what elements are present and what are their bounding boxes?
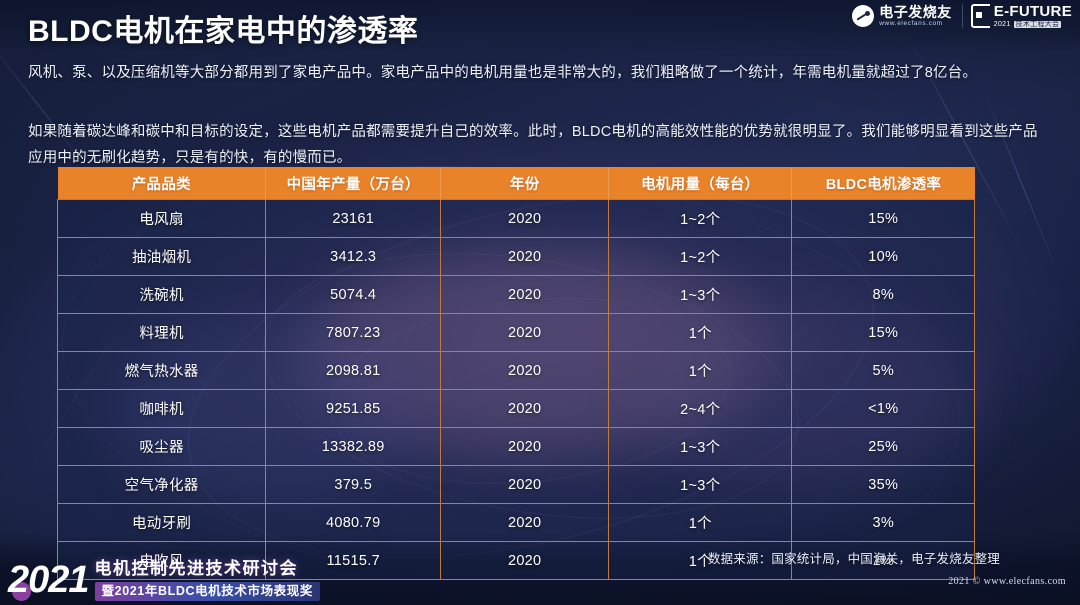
cell-year: 2020 [441,542,609,580]
cell-year: 2020 [441,314,609,352]
cell-motor-usage: 1~3个 [609,466,792,504]
table-row: 料理机7807.2320201个15% [58,314,975,352]
table-row: 空气净化器379.520201~3个35% [58,466,975,504]
cell-annual-output: 3412.3 [266,238,441,276]
table-body: 电风扇2316120201~2个15%抽油烟机3412.320201~2个10%… [58,200,975,580]
cell-annual-output: 9251.85 [266,390,441,428]
table-header-row: 产品品类 中国年产量（万台） 年份 电机用量（每台） BLDC电机渗透率 [58,167,975,200]
cell-product-category: 咖啡机 [58,390,266,428]
table-row: 抽油烟机3412.320201~2个10% [58,238,975,276]
page-title: BLDC电机在家电中的渗透率 [28,6,418,50]
event-logo[interactable]: 2021 电机控制先进技术研讨会 暨2021年BLDC电机技术市场表现奖 [8,560,320,602]
cell-bldc-penetration: 8% [792,276,975,314]
cell-year: 2020 [441,428,609,466]
cell-bldc-penetration: 25% [792,428,975,466]
cell-annual-output: 379.5 [266,466,441,504]
table-row: 电动牙刷4080.7920201个3% [58,504,975,542]
cell-product-category: 电动牙刷 [58,504,266,542]
elecfans-logo[interactable]: 电子发烧友 www.elecfans.com [852,5,952,28]
cell-year: 2020 [441,200,609,238]
cell-bldc-penetration: 10% [792,238,975,276]
cell-annual-output: 5074.4 [266,276,441,314]
cell-year: 2020 [441,466,609,504]
column-header-annual-output: 中国年产量（万台） [266,167,441,200]
table-row: 电风扇2316120201~2个15% [58,200,975,238]
cell-annual-output: 7807.23 [266,314,441,352]
table-row: 吸尘器13382.8920201~3个25% [58,428,975,466]
cell-annual-output: 13382.89 [266,428,441,466]
cell-motor-usage: 1~2个 [609,238,792,276]
cell-bldc-penetration: 3% [792,504,975,542]
cell-product-category: 洗碗机 [58,276,266,314]
elecfans-logo-url: www.elecfans.com [879,21,952,28]
efuture-logo[interactable]: E-FUTURE 2021 技术工程大会 [962,4,1072,28]
cell-annual-output: 2098.81 [266,352,441,390]
column-header-product-category: 产品品类 [58,167,266,200]
cell-bldc-penetration: 15% [792,314,975,352]
cell-product-category: 料理机 [58,314,266,352]
cell-motor-usage: 1~3个 [609,276,792,314]
cell-motor-usage: 1~3个 [609,428,792,466]
cell-year: 2020 [441,238,609,276]
data-source-note: 数据来源：国家统计局，中国海关，电子发烧友整理 [708,548,1000,567]
efuture-logo-year: 2021 [994,21,1011,28]
cell-motor-usage: 1个 [609,314,792,352]
event-logo-title: 电机控制先进技术研讨会 [95,560,320,577]
cell-motor-usage: 1个 [609,352,792,390]
column-header-bldc-penetration: BLDC电机渗透率 [792,167,975,200]
cell-product-category: 空气净化器 [58,466,266,504]
cell-annual-output: 4080.79 [266,504,441,542]
cell-product-category: 抽油烟机 [58,238,266,276]
penetration-rate-table: 产品品类 中国年产量（万台） 年份 电机用量（每台） BLDC电机渗透率 电风扇… [57,167,975,580]
cell-bldc-penetration: 35% [792,466,975,504]
elecfans-circuit-icon [852,5,874,27]
cell-year: 2020 [441,276,609,314]
cell-bldc-penetration: 15% [792,200,975,238]
cell-year: 2020 [441,352,609,390]
table-row: 咖啡机9251.8520202~4个<1% [58,390,975,428]
elecfans-logo-name: 电子发烧友 [879,5,952,19]
body-paragraph-1: 风机、泵、以及压缩机等大部分都用到了家电产品中。家电产品中的电机用量也是非常大的… [28,60,1050,86]
column-header-motor-usage: 电机用量（每台） [609,167,792,200]
header-logo-group: 电子发烧友 www.elecfans.com E-FUTURE 2021 技术工… [852,4,1072,28]
column-header-year: 年份 [441,167,609,200]
efuture-logo-name: E-FUTURE [994,4,1072,19]
cell-bldc-penetration: 5% [792,352,975,390]
cell-motor-usage: 1个 [609,504,792,542]
efuture-bracket-icon [971,4,990,28]
presentation-slide: BLDC电机在家电中的渗透率 电子发烧友 www.elecfans.com E-… [0,0,1080,605]
cell-motor-usage: 1~2个 [609,200,792,238]
cell-product-category: 燃气热水器 [58,352,266,390]
event-logo-subtitle: 暨2021年BLDC电机技术市场表现奖 [95,582,320,602]
table-row: 燃气热水器2098.8120201个5% [58,352,975,390]
cell-year: 2020 [441,390,609,428]
cell-product-category: 吸尘器 [58,428,266,466]
cell-year: 2020 [441,504,609,542]
cell-product-category: 电风扇 [58,200,266,238]
cell-annual-output: 23161 [266,200,441,238]
copyright-text: 2021 © www.elecfans.com [948,576,1066,587]
table-row: 洗碗机5074.420201~3个8% [58,276,975,314]
body-paragraph-2: 如果随着碳达峰和碳中和目标的设定，这些电机产品都需要提升自己的效率。此时，BLD… [28,119,1050,171]
efuture-logo-tagline: 技术工程大会 [1014,21,1062,28]
event-logo-year: 2021 [8,561,89,599]
cell-motor-usage: 2~4个 [609,390,792,428]
cell-bldc-penetration: <1% [792,390,975,428]
